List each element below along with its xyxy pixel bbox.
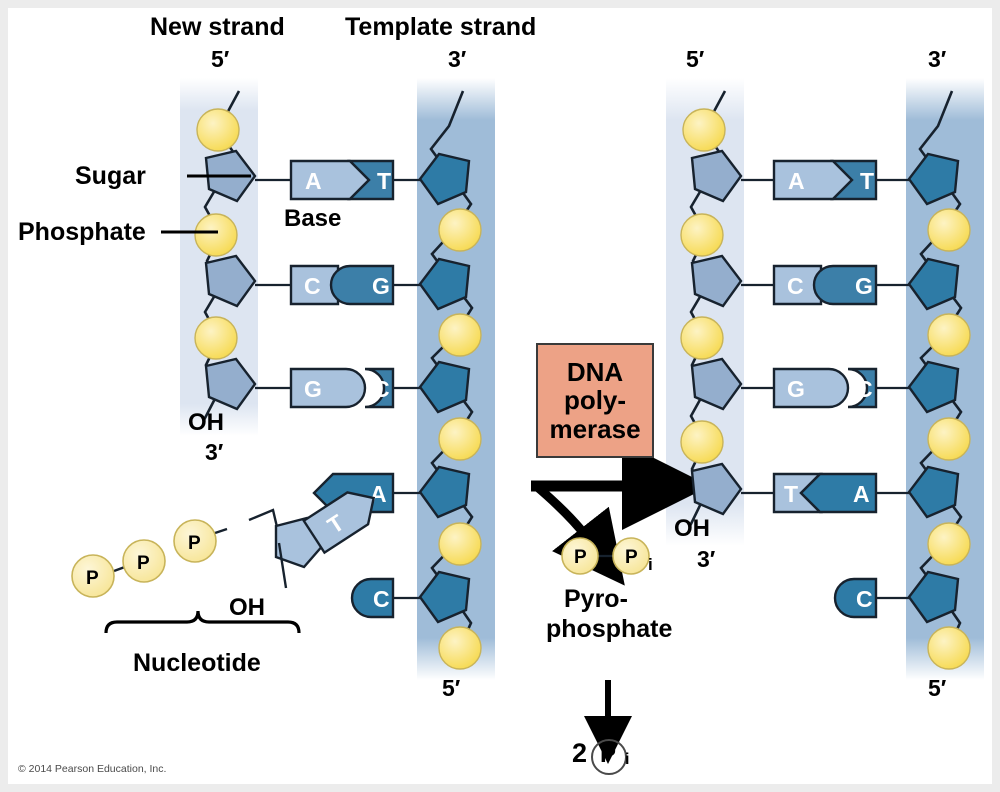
pyrophosphate-subscript: i bbox=[648, 556, 653, 574]
pyrophosphate-molecule: P P bbox=[562, 538, 649, 574]
dna-polymerase-box[interactable]: DNA poly- merase bbox=[536, 343, 654, 458]
right-base-T: T bbox=[860, 168, 874, 194]
base-label: Base bbox=[284, 206, 341, 231]
left-base-C: C bbox=[304, 273, 321, 299]
right-base-G: G bbox=[855, 273, 873, 299]
svg-text:P: P bbox=[188, 533, 201, 554]
right-base-C3: C bbox=[856, 586, 873, 612]
figure-canvas: New strand Template strand 5′ 3′ 3′ 5′ 5… bbox=[8, 8, 992, 784]
left-template-strand-backbone bbox=[393, 91, 481, 669]
copyright-notice: © 2014 Pearson Education, Inc. bbox=[18, 763, 166, 775]
nucleotide-bracket-label: Nucleotide bbox=[133, 650, 261, 676]
free-nucleotide-oh: OH bbox=[229, 595, 265, 620]
right-basepair-C-G: C G bbox=[774, 266, 876, 304]
svg-text:P: P bbox=[625, 547, 638, 568]
left-base-C-unpaired: C bbox=[352, 579, 393, 617]
svg-text:P: P bbox=[574, 547, 587, 568]
pyrophosphate-label-line1: Pyro- bbox=[564, 586, 628, 612]
right-template-strand-backbone bbox=[876, 91, 970, 669]
right-basepair-A-T: A T bbox=[774, 161, 876, 199]
left-base-T: T bbox=[377, 168, 391, 194]
right-base-T2: T bbox=[784, 481, 798, 507]
pyrophosphate-branch-arrow bbox=[535, 485, 586, 536]
phosphate-label: Phosphate bbox=[18, 219, 146, 245]
left-basepair-G-C: G C bbox=[291, 369, 393, 407]
svg-text:P: P bbox=[86, 568, 99, 589]
right-basepair-T-A: T A bbox=[774, 474, 876, 512]
right-base-C2: C bbox=[856, 376, 873, 402]
left-base-C3: C bbox=[373, 586, 390, 612]
right-new-strand-oh: OH bbox=[674, 516, 710, 541]
right-base-C: C bbox=[787, 273, 804, 299]
left-base-A: A bbox=[305, 168, 322, 194]
polymerase-line-1: DNA bbox=[567, 358, 623, 386]
free-nucleotide: T P P P bbox=[72, 482, 384, 633]
two-pi-symbol: P bbox=[600, 742, 616, 767]
polymerase-line-3: merase bbox=[549, 415, 640, 443]
right-base-A: A bbox=[788, 168, 805, 194]
left-basepair-C-G: C G bbox=[291, 266, 393, 304]
left-base-G: G bbox=[372, 273, 390, 299]
right-base-C-unpaired: C bbox=[835, 579, 876, 617]
svg-text:P: P bbox=[137, 553, 150, 574]
left-base-C2: C bbox=[373, 376, 390, 402]
polymerase-line-2: poly- bbox=[564, 386, 626, 414]
left-new-strand-oh: OH bbox=[188, 410, 224, 435]
left-basepair-A-T: A T bbox=[291, 161, 393, 199]
two-pi-prefix: 2 bbox=[572, 739, 587, 767]
right-base-A3: A bbox=[853, 481, 870, 507]
two-pi-subscript: i bbox=[625, 752, 629, 769]
new-strand-phosphate bbox=[197, 109, 239, 151]
sugar-label: Sugar bbox=[75, 163, 146, 189]
pyrophosphate-label-line2: phosphate bbox=[546, 616, 672, 642]
right-base-G2: G bbox=[787, 376, 805, 402]
right-basepair-G-C: G C bbox=[774, 369, 876, 407]
left-base-G2: G bbox=[304, 376, 322, 402]
